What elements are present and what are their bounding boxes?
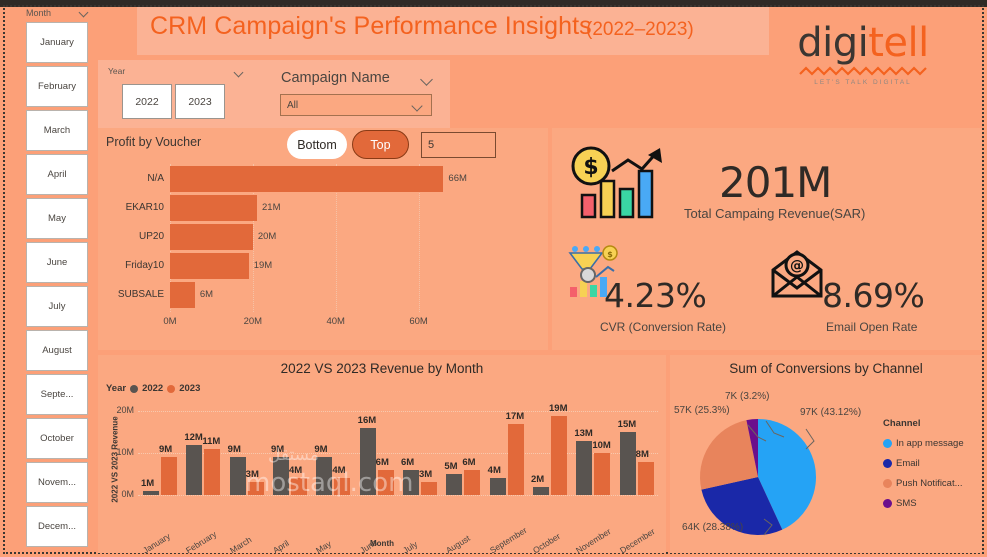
pie-callout-push-text: 57K (25.3%) xyxy=(674,405,730,416)
pie-legend-label-sms: SMS xyxy=(896,498,917,509)
revenue-y-tick: 20M xyxy=(104,405,134,415)
revenue-bar[interactable] xyxy=(421,482,437,495)
cvr-value: 4.23% xyxy=(604,276,706,315)
logo-zigzag-icon xyxy=(798,66,928,76)
voucher-x-tick: 40M xyxy=(326,316,344,327)
revenue-bar-value: 4M xyxy=(289,465,302,476)
toggle-top-button[interactable]: Top xyxy=(352,130,409,159)
revenue-growth-icon: $ xyxy=(566,145,672,221)
logo-wordmark: digitell xyxy=(793,22,933,64)
month-item-october[interactable]: October xyxy=(26,418,88,459)
svg-text:$: $ xyxy=(583,155,598,180)
revenue-bar[interactable] xyxy=(186,445,202,495)
campaign-name-label: Campaign Name xyxy=(281,70,390,86)
profit-by-voucher-chart: 0M20M40M60MN/A66MEKAR1021MUP2020MFriday1… xyxy=(98,164,548,350)
svg-text:$: $ xyxy=(607,250,613,259)
revenue-bar[interactable] xyxy=(360,428,376,495)
voucher-bar[interactable] xyxy=(170,224,253,250)
pie-legend-label-in-app: In app message xyxy=(896,438,964,449)
legend-label-2022: 2022 xyxy=(142,383,163,394)
revenue-bar-value: 4M xyxy=(332,465,345,476)
legend-swatch-2022 xyxy=(130,385,138,393)
revenue-bar-value: 6M xyxy=(462,457,475,468)
month-item-september[interactable]: Septe... xyxy=(26,374,88,415)
pie-legend-label-push: Push Notificat... xyxy=(896,478,963,489)
revenue-bar[interactable] xyxy=(334,478,350,495)
revenue-bar-value: 5M xyxy=(444,461,457,472)
month-item-april[interactable]: April xyxy=(26,154,88,195)
pie-callout-sms: 7K (3.2%) xyxy=(725,391,769,403)
voucher-category-label: UP20 xyxy=(98,224,164,250)
revenue-bar[interactable] xyxy=(230,457,246,495)
logo-text-tell: tell xyxy=(868,20,929,66)
campaign-name-value: All xyxy=(287,100,298,111)
pie-legend-label-email: Email xyxy=(896,458,920,469)
revenue-y-tick: 10M xyxy=(104,447,134,457)
chevron-down-icon[interactable] xyxy=(422,75,434,83)
pie-legend-item-push[interactable]: Push Notificat... xyxy=(883,478,963,489)
revenue-bar-value: 8M xyxy=(636,449,649,460)
voucher-bar-value: 66M xyxy=(448,166,466,192)
legend-swatch-2023 xyxy=(167,385,175,393)
year-option-list: 2022 2023 xyxy=(122,84,225,119)
revenue-bar[interactable] xyxy=(464,470,480,495)
revenue-bar[interactable] xyxy=(316,457,332,495)
month-item-june[interactable]: June xyxy=(26,242,88,283)
month-item-february[interactable]: February xyxy=(26,66,88,107)
month-item-august[interactable]: August xyxy=(26,330,88,371)
revenue-bar[interactable] xyxy=(204,449,220,495)
revenue-bar-value: 13M xyxy=(574,428,592,439)
pie-legend-item-email[interactable]: Email xyxy=(883,458,920,469)
revenue-bar[interactable] xyxy=(638,462,654,495)
revenue-bar-value: 9M xyxy=(271,444,284,455)
filters-panel: Year 2022 2023 Campaign Name All xyxy=(98,60,450,128)
voucher-category-label: Friday10 xyxy=(98,253,164,279)
revenue-bar-value: 9M xyxy=(228,444,241,455)
total-revenue-label: Total Campaing Revenue(SAR) xyxy=(684,206,865,221)
legend-title: Year xyxy=(106,383,126,394)
legend-label-2023: 2023 xyxy=(179,383,200,394)
voucher-bar[interactable] xyxy=(170,166,443,192)
voucher-bar-value: 20M xyxy=(258,224,276,250)
chevron-down-icon[interactable] xyxy=(235,69,244,75)
month-item-july[interactable]: July xyxy=(26,286,88,327)
toggle-bottom-button[interactable]: Bottom xyxy=(287,130,347,159)
pie-callout-in-app-text: 97K (43.12%) xyxy=(800,407,861,418)
revenue-bar[interactable] xyxy=(490,478,506,495)
month-slicer-label: Month xyxy=(26,8,51,18)
revenue-by-month-title: 2022 VS 2023 Revenue by Month xyxy=(98,361,666,376)
voucher-bar[interactable] xyxy=(170,282,195,308)
revenue-bar-value: 10M xyxy=(592,440,610,451)
voucher-bar[interactable] xyxy=(170,253,249,279)
profit-by-voucher-title: Profit by Voucher xyxy=(106,135,201,149)
pie-callout-sms-text: 7K (3.2%) xyxy=(725,391,769,402)
email-open-rate-value: 8.69% xyxy=(822,276,924,315)
window-top-strip xyxy=(0,0,987,7)
campaign-name-slicer: Campaign Name All xyxy=(274,62,448,126)
month-slicer-list: January February March April May June Ju… xyxy=(10,22,94,547)
pie-legend-item-sms[interactable]: SMS xyxy=(883,498,917,509)
page-title: CRM Campaign's Performance Insights xyxy=(150,12,592,41)
chevron-down-icon[interactable] xyxy=(80,9,89,15)
revenue-bar-value: 6M xyxy=(376,457,389,468)
revenue-bar[interactable] xyxy=(594,453,610,495)
voucher-x-tick: 0M xyxy=(163,316,176,327)
revenue-bar-value: 2M xyxy=(531,474,544,485)
year-option-2022[interactable]: 2022 xyxy=(122,84,172,119)
revenue-bar[interactable] xyxy=(161,457,177,495)
revenue-bar-value: 4M xyxy=(488,465,501,476)
revenue-bar-value: 3M xyxy=(419,469,432,480)
pie-legend-item-in-app[interactable]: In app message xyxy=(883,438,964,449)
total-revenue-value: 201M xyxy=(719,158,831,207)
profit-by-voucher-card: Profit by Voucher Bottom Top 5 0M20M40M6… xyxy=(98,128,548,350)
month-item-december[interactable]: Decem... xyxy=(26,506,88,547)
top-n-input[interactable]: 5 xyxy=(421,132,496,158)
revenue-bar[interactable] xyxy=(576,441,592,495)
voucher-bar-value: 19M xyxy=(254,253,272,279)
pie-callout-push: 57K (25.3%) xyxy=(674,405,748,417)
revenue-bar-value: 9M xyxy=(159,444,172,455)
pie-legend-swatch-email xyxy=(883,459,892,468)
revenue-bar-value: 6M xyxy=(401,457,414,468)
voucher-category-label: EKAR10 xyxy=(98,195,164,221)
revenue-bar-value: 11M xyxy=(202,436,220,447)
month-item-march[interactable]: March xyxy=(26,110,88,151)
revenue-chart-legend: Year 2022 2023 xyxy=(106,383,200,394)
pie-legend-swatch-in-app xyxy=(883,439,892,448)
revenue-bar-value: 9M xyxy=(314,444,327,455)
revenue-gridline xyxy=(138,411,658,412)
voucher-x-tick: 60M xyxy=(409,316,427,327)
campaign-name-dropdown[interactable]: All xyxy=(280,94,432,116)
revenue-chart-x-axis-title: Month xyxy=(98,539,666,548)
svg-text:@: @ xyxy=(790,258,804,274)
conversions-by-channel-title: Sum of Conversions by Channel xyxy=(670,361,982,376)
revenue-bar-value: 1M xyxy=(141,478,154,489)
pie-callout-email: 64K (28.38%) xyxy=(682,522,743,534)
voucher-category-label: N/A xyxy=(98,166,164,192)
year-slicer[interactable]: Year 2022 2023 xyxy=(100,62,252,126)
digitell-logo: digitell LET'S TALK DIGITAL xyxy=(793,22,933,106)
month-item-may[interactable]: May xyxy=(26,198,88,239)
month-slicer[interactable]: Month January February March April May J… xyxy=(10,5,94,553)
email-open-icon: @ xyxy=(768,250,826,300)
chevron-down-icon[interactable] xyxy=(413,102,423,109)
month-item-november[interactable]: Novem... xyxy=(26,462,88,503)
revenue-bar[interactable] xyxy=(403,470,419,495)
revenue-bar[interactable] xyxy=(248,482,264,495)
voucher-category-label: SUBSALE xyxy=(98,282,164,308)
revenue-bar[interactable] xyxy=(446,474,462,495)
conversions-by-channel-card: Sum of Conversions by Channel 97K (43.12… xyxy=(670,355,982,553)
pie-legend-title: Channel xyxy=(883,418,920,429)
revenue-bar[interactable] xyxy=(533,487,549,495)
revenue-bar[interactable] xyxy=(291,478,307,495)
pie-legend-swatch-sms xyxy=(883,499,892,508)
page-title-year-range: (2022–2023) xyxy=(586,19,694,41)
email-open-rate-label: Email Open Rate xyxy=(826,320,917,334)
revenue-bar-value: 3M xyxy=(246,469,259,480)
revenue-bar-value: 15M xyxy=(618,419,636,430)
month-item-january[interactable]: January xyxy=(26,22,88,63)
logo-tagline: LET'S TALK DIGITAL xyxy=(793,79,933,86)
revenue-bar-value: 17M xyxy=(506,411,524,422)
year-option-2023[interactable]: 2023 xyxy=(175,84,225,119)
voucher-bar-value: 6M xyxy=(200,282,213,308)
month-slicer-header: Month xyxy=(10,5,94,21)
revenue-bar[interactable] xyxy=(508,424,524,495)
revenue-gridline xyxy=(138,495,658,496)
voucher-x-tick: 20M xyxy=(244,316,262,327)
revenue-bar-value: 19M xyxy=(549,403,567,414)
revenue-bar-value: 16M xyxy=(358,415,376,426)
revenue-bar-value: 12M xyxy=(184,432,202,443)
voucher-bar-value: 21M xyxy=(262,195,280,221)
revenue-bar[interactable] xyxy=(378,470,394,495)
pie-callout-email-text: 64K (28.38%) xyxy=(682,522,743,533)
year-slicer-label: Year xyxy=(108,66,125,76)
revenue-by-month-card: 2022 VS 2023 Revenue by Month Year 2022 … xyxy=(98,355,666,553)
revenue-y-tick: 0M xyxy=(104,489,134,499)
cvr-label: CVR (Conversion Rate) xyxy=(600,320,726,334)
revenue-bar[interactable] xyxy=(620,432,636,495)
revenue-bar[interactable] xyxy=(273,457,289,495)
voucher-bar[interactable] xyxy=(170,195,257,221)
pie-callout-in-app: 97K (43.12%) xyxy=(800,407,861,419)
revenue-chart-plot: 0M10M20M1M9MJanuary12M11MFebruary9M3MMar… xyxy=(138,403,658,495)
logo-text-digi: digi xyxy=(797,20,868,66)
pie-legend-swatch-push xyxy=(883,479,892,488)
revenue-bar[interactable] xyxy=(143,491,159,495)
revenue-bar[interactable] xyxy=(551,416,567,495)
